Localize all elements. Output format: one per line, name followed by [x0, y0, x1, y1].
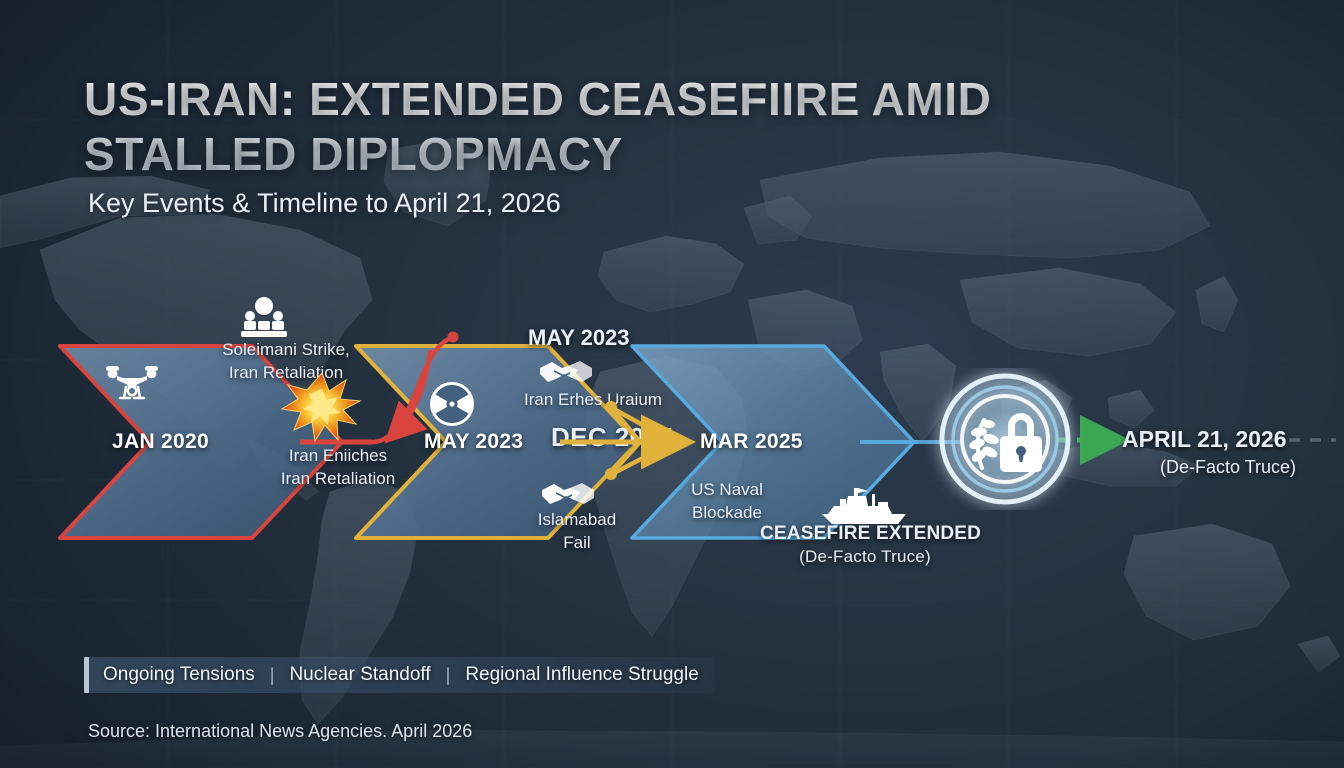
- annotation-ceasefire-line1: CEASEFIRE EXTENDED: [760, 522, 970, 545]
- final-date-note: (De-Facto Truce): [1160, 456, 1296, 479]
- infographic-canvas: US-IRAN: EXTENDED CEASEFIIRE AMID STALLE…: [0, 0, 1344, 768]
- annotation-soleimani-line1: Soleimani Strike,: [196, 338, 376, 361]
- final-date-label: APRIL 21, 2026: [1122, 428, 1287, 451]
- tag-regional-influence-struggle[interactable]: Regional Influence Struggle: [465, 664, 698, 686]
- annotation-blockade: US Naval Blockade: [664, 478, 790, 524]
- annotation-soleimani: Soleimani Strike, Iran Retaliation: [196, 338, 376, 384]
- monument-icon: [238, 294, 290, 340]
- stage-label-mar-2025: MAR 2025: [700, 430, 803, 454]
- stage-label-jan-2020: JAN 2020: [112, 430, 209, 454]
- drone-icon: [100, 358, 164, 404]
- source-note: Source: International News Agencies. Apr…: [88, 721, 472, 742]
- annotation-blockade-line1: US Naval: [664, 478, 790, 501]
- tag-separator-2: |: [446, 665, 451, 686]
- page-subtitle: Key Events & Timeline to April 21, 2026: [88, 188, 561, 219]
- ceasefire-seal-badge[interactable]: [922, 368, 1088, 510]
- tag-nuclear-standoff[interactable]: Nuclear Standoff: [289, 664, 430, 686]
- annotation-ceasefire-line2: (De-Facto Truce): [760, 545, 970, 568]
- annotation-islamabad-line2: Fail: [516, 531, 638, 554]
- stage-label-may-2023: MAY 2023: [424, 430, 523, 454]
- tag-separator-1: |: [270, 665, 275, 686]
- topic-tag-bar: Ongoing Tensions | Nuclear Standoff | Re…: [84, 657, 715, 693]
- tag-ongoing-tensions[interactable]: Ongoing Tensions: [103, 664, 255, 686]
- annotation-islamabad-line1: Islamabad: [516, 508, 638, 531]
- annotation-islamabad: Islamabad Fail: [516, 508, 638, 554]
- annotation-ceasefire: CEASEFIRE EXTENDED (De-Facto Truce): [760, 522, 970, 568]
- annotation-soleimani-line2: Iran Retaliation: [196, 361, 376, 384]
- radiation-icon: [428, 380, 476, 428]
- handshake-icon-top: [538, 356, 594, 390]
- page-title: US-IRAN: EXTENDED CEASEFIIRE AMID STALLE…: [84, 72, 1084, 182]
- annotation-blockade-line2: Blockade: [664, 501, 790, 524]
- handshake-icon-bottom: [540, 478, 596, 512]
- annotation-may2023-date: MAY 2023: [528, 326, 630, 349]
